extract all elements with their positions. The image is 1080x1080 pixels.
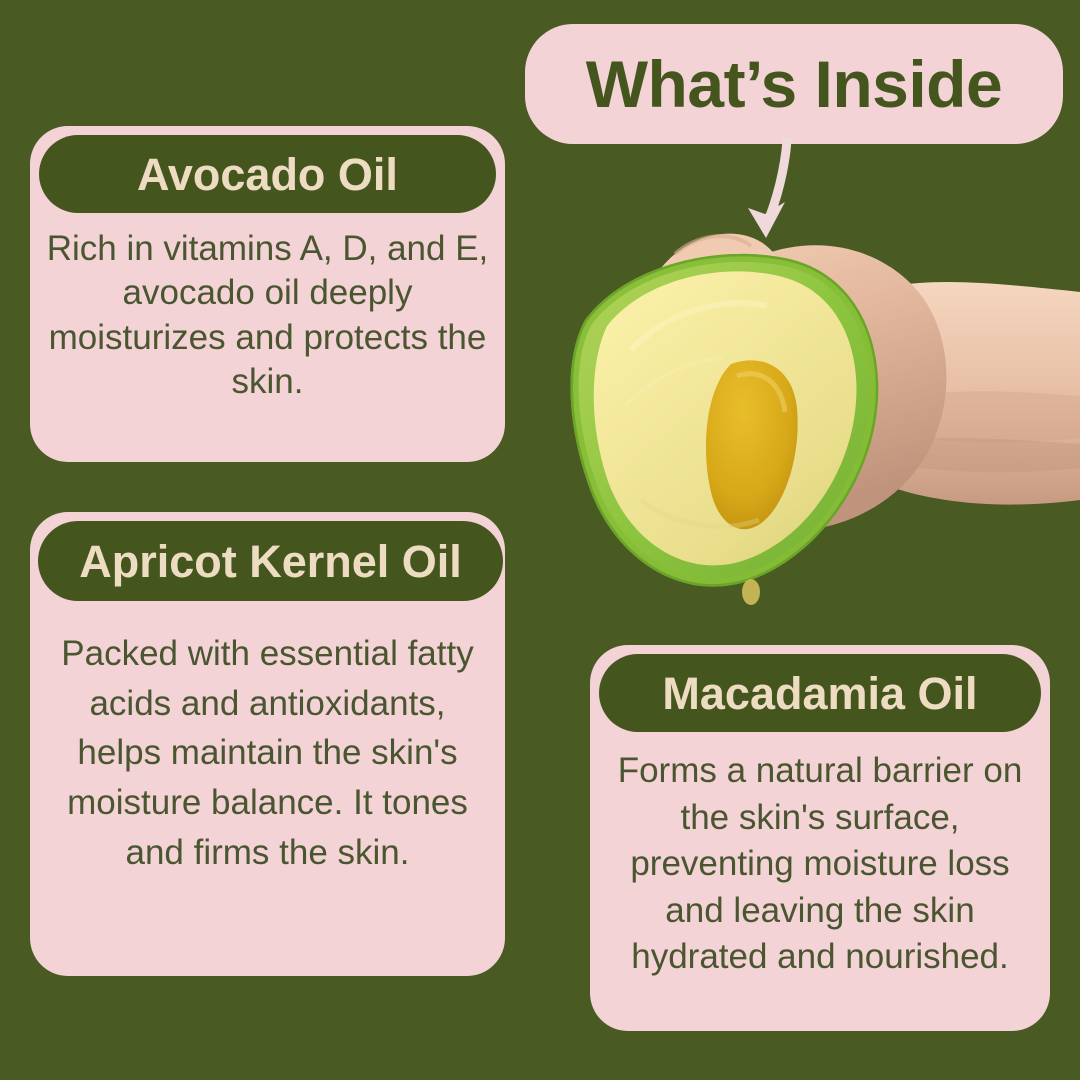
curved-down-arrow-icon xyxy=(735,138,825,248)
ingredient-card-macadamia: Macadamia Oil Forms a natural barrier on… xyxy=(590,645,1050,1031)
ingredient-card-avocado: Avocado Oil Rich in vitamins A, D, and E… xyxy=(30,126,505,462)
card-title-avocado: Avocado Oil xyxy=(39,135,496,213)
card-description-apricot: Packed with essential fatty acids and an… xyxy=(53,629,483,877)
card-description-macadamia: Forms a natural barrier on the skin's su… xyxy=(600,748,1040,981)
card-title-macadamia: Macadamia Oil xyxy=(599,654,1041,732)
card-title-apricot: Apricot Kernel Oil xyxy=(38,521,503,601)
card-description-avocado: Rich in vitamins A, D, and E, avocado oi… xyxy=(42,227,494,405)
page-title: What’s Inside xyxy=(586,51,1002,117)
hand-avocado-photo xyxy=(555,200,1080,650)
ingredient-card-apricot: Apricot Kernel Oil Packed with essential… xyxy=(30,512,505,976)
poster-canvas: What’s Inside xyxy=(0,0,1080,1080)
avocado-half-icon xyxy=(571,254,879,605)
page-title-pill: What’s Inside xyxy=(525,24,1063,144)
